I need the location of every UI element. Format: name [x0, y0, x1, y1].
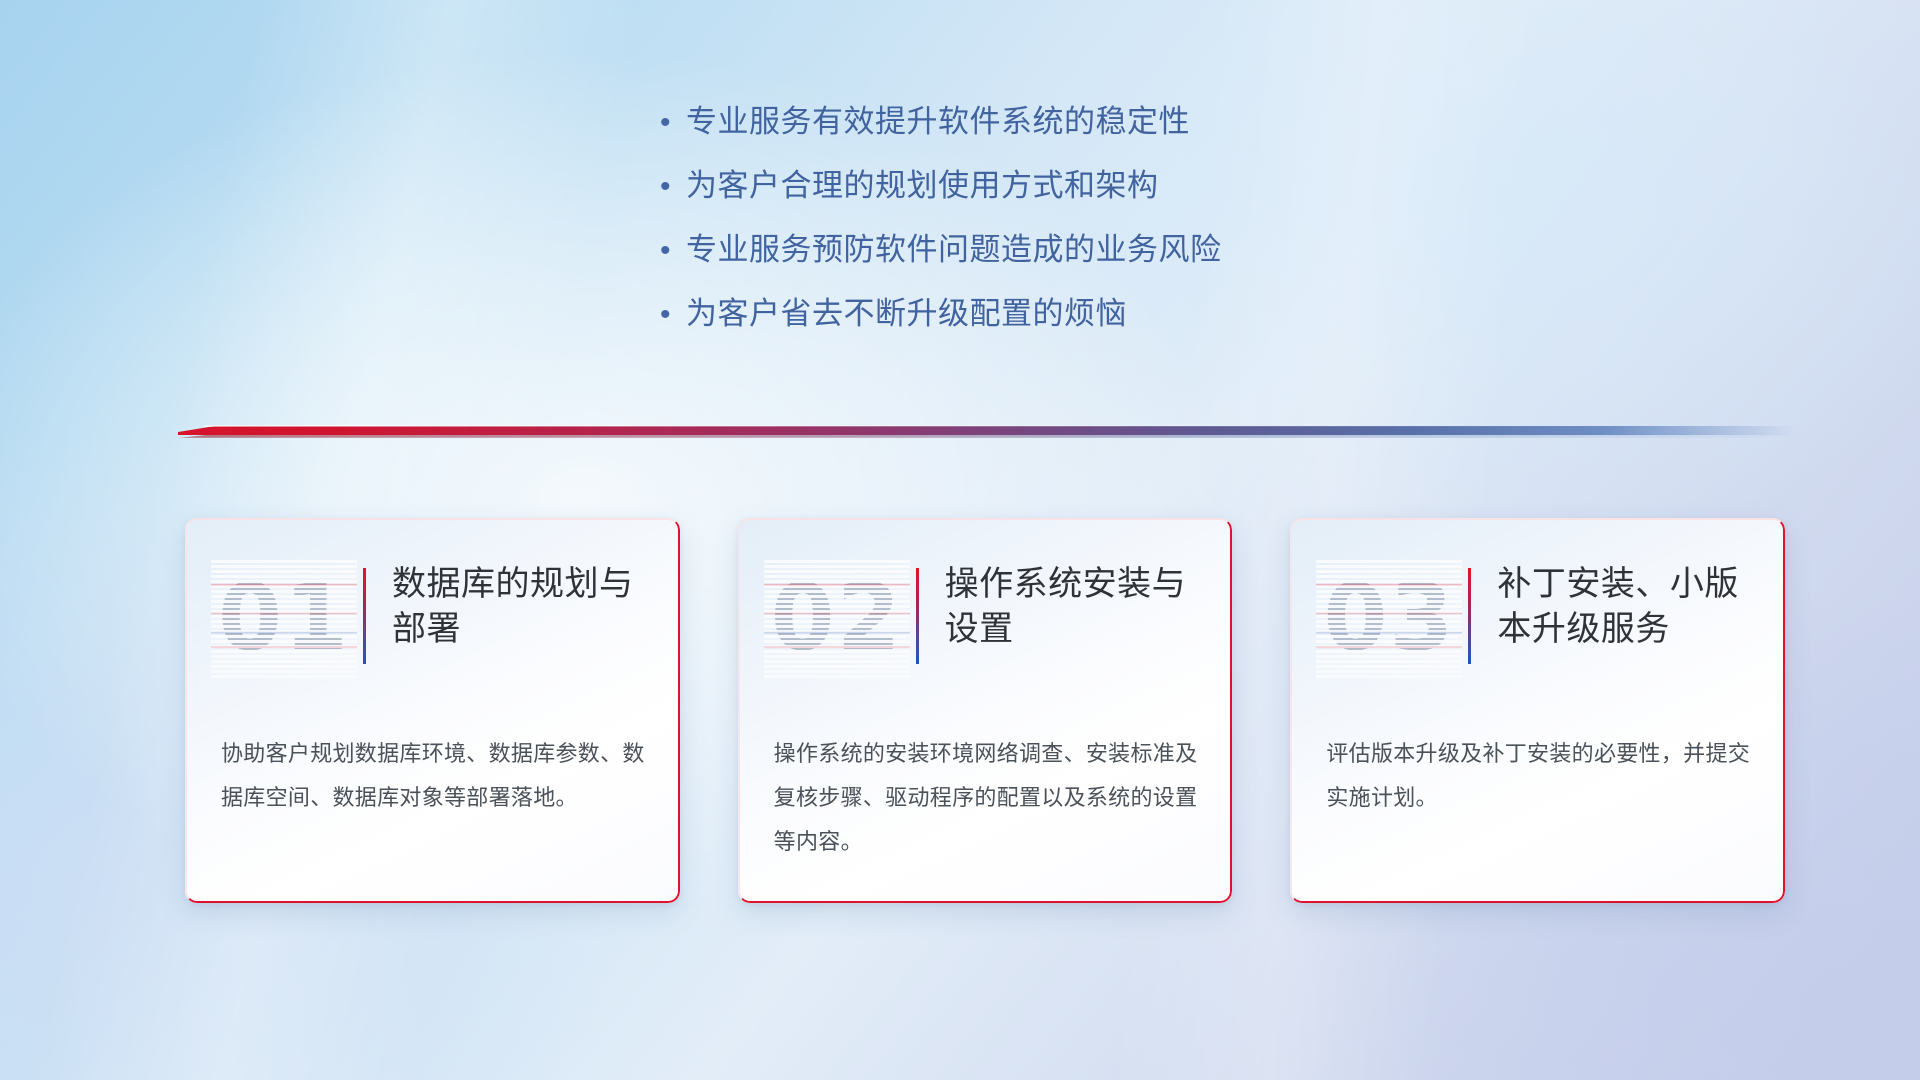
bullet-text: 专业服务有效提升软件系统的稳定性 [686, 96, 1190, 141]
card-body-text: 评估版本升级及补丁安装的必要性，并提交实施计划。 [1326, 732, 1754, 820]
bullet-list: • 专业服务有效提升软件系统的稳定性 • 为客户合理的规划使用方式和架构 • 专… [660, 96, 1420, 352]
list-item: • 为客户合理的规划使用方式和架构 [660, 160, 1420, 224]
list-item: • 专业服务预防软件问题造成的业务风险 [660, 224, 1420, 288]
card-header: 01 数据库的规划与部署 [185, 562, 680, 680]
card-header: 02 操作系统安装与设置 [738, 562, 1233, 680]
card-divider-rule [363, 568, 366, 664]
card-number-badge: 02 [768, 562, 906, 674]
bullet-text: 为客户合理的规划使用方式和架构 [686, 160, 1159, 205]
bullet-dot-icon: • [660, 172, 686, 202]
list-item: • 为客户省去不断升级配置的烦恼 [660, 288, 1420, 352]
bullet-dot-icon: • [660, 300, 686, 330]
bullet-text: 专业服务预防软件问题造成的业务风险 [686, 224, 1222, 269]
bullet-dot-icon: • [660, 236, 686, 266]
card-body-text: 操作系统的安装环境网络调查、安装标准及复核步骤、驱动程序的配置以及系统的设置等内… [774, 732, 1202, 864]
card-number-badge: 03 [1320, 562, 1458, 674]
card-header: 03 补丁安装、小版本升级服务 [1290, 562, 1785, 680]
list-item: • 专业服务有效提升软件系统的稳定性 [660, 96, 1420, 160]
card-divider-rule [1468, 568, 1471, 664]
card-number-text: 02 [771, 572, 903, 664]
card-row: 01 数据库的规划与部署 协助客户规划数据库环境、数据库参数、数据库空间、数据库… [185, 518, 1785, 908]
section-divider [178, 420, 1796, 442]
card-body-text: 协助客户规划数据库环境、数据库参数、数据库空间、数据库对象等部署落地。 [221, 732, 649, 820]
service-card-03[interactable]: 03 补丁安装、小版本升级服务 评估版本升级及补丁安装的必要性，并提交实施计划。 [1290, 518, 1785, 903]
divider-highlight [204, 425, 1796, 427]
service-card-02[interactable]: 02 操作系统安装与设置 操作系统的安装环境网络调查、安装标准及复核步骤、驱动程… [738, 518, 1233, 903]
card-divider-rule [916, 568, 919, 664]
bullet-dot-icon: • [660, 108, 686, 138]
card-number-text: 03 [1323, 572, 1455, 664]
card-title: 补丁安装、小版本升级服务 [1497, 562, 1749, 652]
divider-bar [178, 426, 1796, 435]
card-title: 操作系统安装与设置 [945, 562, 1197, 652]
card-number-badge: 01 [215, 562, 353, 674]
card-number-text: 01 [218, 572, 350, 664]
slide-canvas: • 专业服务有效提升软件系统的稳定性 • 为客户合理的规划使用方式和架构 • 专… [0, 0, 1920, 1080]
service-card-01[interactable]: 01 数据库的规划与部署 协助客户规划数据库环境、数据库参数、数据库空间、数据库… [185, 518, 680, 903]
bullet-text: 为客户省去不断升级配置的烦恼 [686, 288, 1127, 333]
card-title: 数据库的规划与部署 [392, 562, 644, 652]
